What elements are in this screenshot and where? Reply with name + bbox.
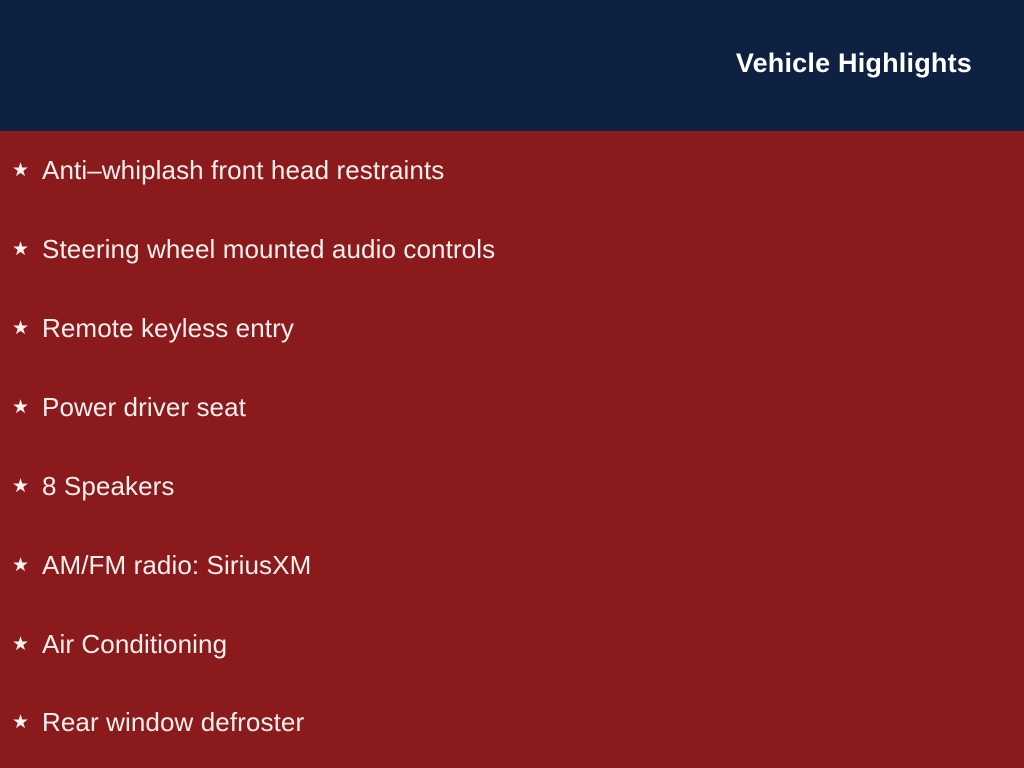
list-item-label: Air Conditioning <box>42 624 227 664</box>
list-item-label: AM/FM radio: SiriusXM <box>42 545 311 585</box>
list-item-label: Steering wheel mounted audio controls <box>42 229 495 269</box>
list-item: ★Air Conditioning <box>0 624 1024 664</box>
star-bullet-icon: ★ <box>12 308 42 348</box>
star-bullet-icon: ★ <box>12 229 42 269</box>
list-item: ★AM/FM radio: SiriusXM <box>0 545 1024 585</box>
list-item: ★Rear window defroster <box>0 702 1024 742</box>
star-bullet-icon: ★ <box>12 545 42 585</box>
list-item: ★Anti–whiplash front head restraints <box>0 150 1024 190</box>
list-item-label: Remote keyless entry <box>42 308 294 348</box>
star-bullet-icon: ★ <box>12 150 42 190</box>
vehicle-highlights-slide: Vehicle Highlights ★Anti–whiplash front … <box>0 0 1024 768</box>
list-item-label: Rear window defroster <box>42 702 304 742</box>
list-item: ★Power driver seat <box>0 387 1024 427</box>
list-item: ★Remote keyless entry <box>0 308 1024 348</box>
list-item-label: 8 Speakers <box>42 466 175 506</box>
list-item-label: Anti–whiplash front head restraints <box>42 150 444 190</box>
star-bullet-icon: ★ <box>12 624 42 664</box>
star-bullet-icon: ★ <box>12 387 42 427</box>
page-title: Vehicle Highlights <box>736 46 972 80</box>
star-bullet-icon: ★ <box>12 702 42 742</box>
slide-header-band: Vehicle Highlights <box>0 0 1024 131</box>
slide-body: ★Anti–whiplash front head restraints★Ste… <box>0 131 1024 768</box>
list-item: ★8 Speakers <box>0 466 1024 506</box>
list-item: ★Steering wheel mounted audio controls <box>0 229 1024 269</box>
star-bullet-icon: ★ <box>12 466 42 506</box>
list-item-label: Power driver seat <box>42 387 246 427</box>
